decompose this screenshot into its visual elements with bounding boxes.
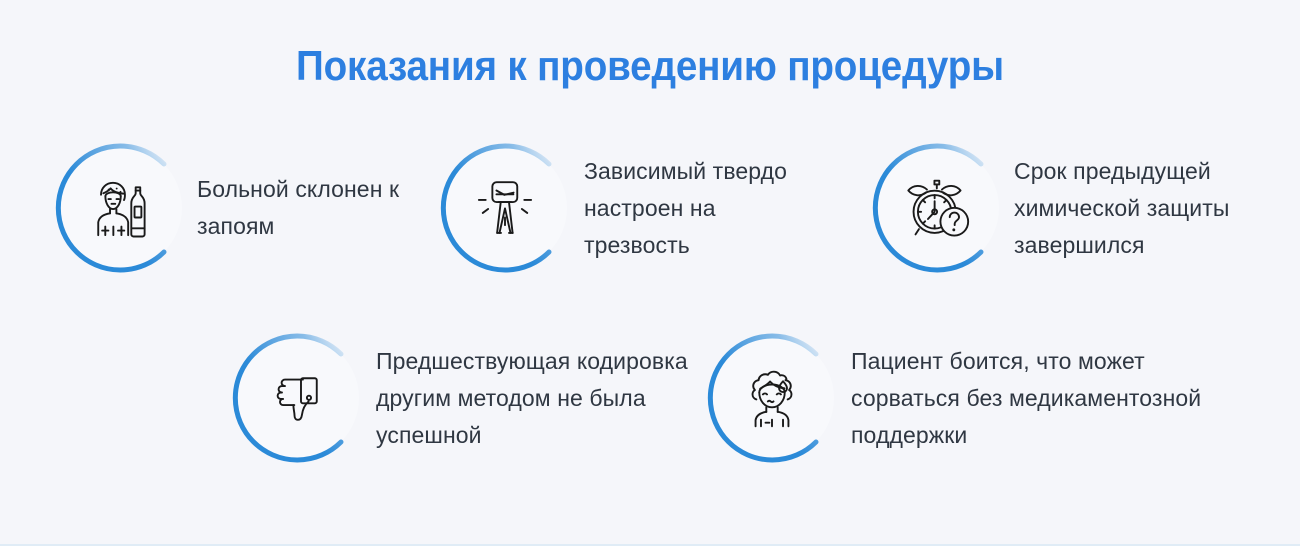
indication-text-3: Срок предыдущей химической защиты заверш…: [1014, 143, 1274, 264]
worried-patient-icon: [707, 333, 837, 463]
alarm-clock-question-icon: [872, 143, 1002, 273]
badge-ring-4: [232, 333, 362, 463]
indication-item-3: Срок предыдущей химической защиты заверш…: [872, 143, 1274, 273]
indication-text-1: Больной склонен к запоям: [197, 143, 437, 245]
determined-person-icon: [440, 143, 570, 273]
badge-ring-3: [872, 143, 1002, 273]
indication-text-5: Пациент боится, что может сорваться без …: [851, 333, 1211, 454]
indication-item-4: Предшествующая кодировка другим методом …: [232, 333, 706, 463]
indication-item-1: Больной склонен к запоям: [55, 143, 437, 273]
badge-ring-1: [55, 143, 185, 273]
badge-ring-5: [707, 333, 837, 463]
indication-item-5: Пациент боится, что может сорваться без …: [707, 333, 1211, 463]
page-title: Показания к проведению процедуры: [52, 42, 1248, 90]
indication-text-4: Предшествующая кодировка другим методом …: [376, 333, 706, 454]
infographic-panel: Показания к проведению процедуры: [0, 0, 1300, 546]
badge-ring-2: [440, 143, 570, 273]
indication-item-2: Зависимый твердо настроен на трезвость: [440, 143, 814, 273]
man-with-bottle-icon: [55, 143, 185, 273]
indication-text-2: Зависимый твердо настроен на трезвость: [584, 143, 814, 264]
thumbs-down-icon: [232, 333, 362, 463]
